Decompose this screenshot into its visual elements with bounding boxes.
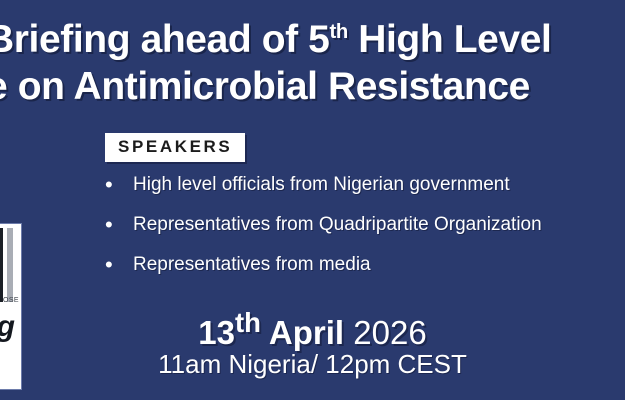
- title-line-1-suffix: High Level: [348, 18, 552, 61]
- event-date-year: 2026: [353, 314, 426, 351]
- title-line-1: Briefing ahead of 5th High Level: [0, 16, 625, 63]
- bullet-dot-icon: •: [103, 172, 133, 198]
- speakers-list: • High level officials from Nigerian gov…: [103, 172, 625, 292]
- event-date-day: 13: [198, 314, 235, 351]
- bullet-dot-icon: •: [103, 212, 133, 238]
- event-time: 11am Nigeria/ 12pm CEST: [0, 348, 625, 380]
- list-item: • High level officials from Nigerian gov…: [103, 172, 625, 212]
- logo-bars-graphic: [0, 228, 22, 302]
- speakers-heading-label: SPEAKERS: [118, 138, 232, 156]
- list-item-label: Representatives from Quadripartite Organ…: [133, 212, 542, 238]
- list-item: • Representatives from Quadripartite Org…: [103, 212, 625, 252]
- bullet-dot-icon: •: [103, 252, 133, 278]
- title-line-2: e on Antimicrobial Resistance: [0, 63, 625, 110]
- list-item-label: Representatives from media: [133, 252, 371, 278]
- list-item-label: High level officials from Nigerian gover…: [133, 172, 510, 198]
- poster-title: Briefing ahead of 5th High Level e on An…: [0, 16, 625, 110]
- event-date-month: April: [261, 314, 353, 351]
- event-date-ordinal: th: [235, 307, 261, 338]
- title-ordinal-suffix: th: [329, 21, 347, 43]
- poster-canvas: OSE g Briefing ahead of 5th High Level e…: [0, 0, 625, 400]
- title-line-1-prefix: Briefing ahead of 5: [0, 18, 329, 61]
- event-date: 13th April 2026: [0, 303, 625, 353]
- list-item: • Representatives from media: [103, 252, 625, 292]
- speakers-heading-box: SPEAKERS: [105, 133, 245, 162]
